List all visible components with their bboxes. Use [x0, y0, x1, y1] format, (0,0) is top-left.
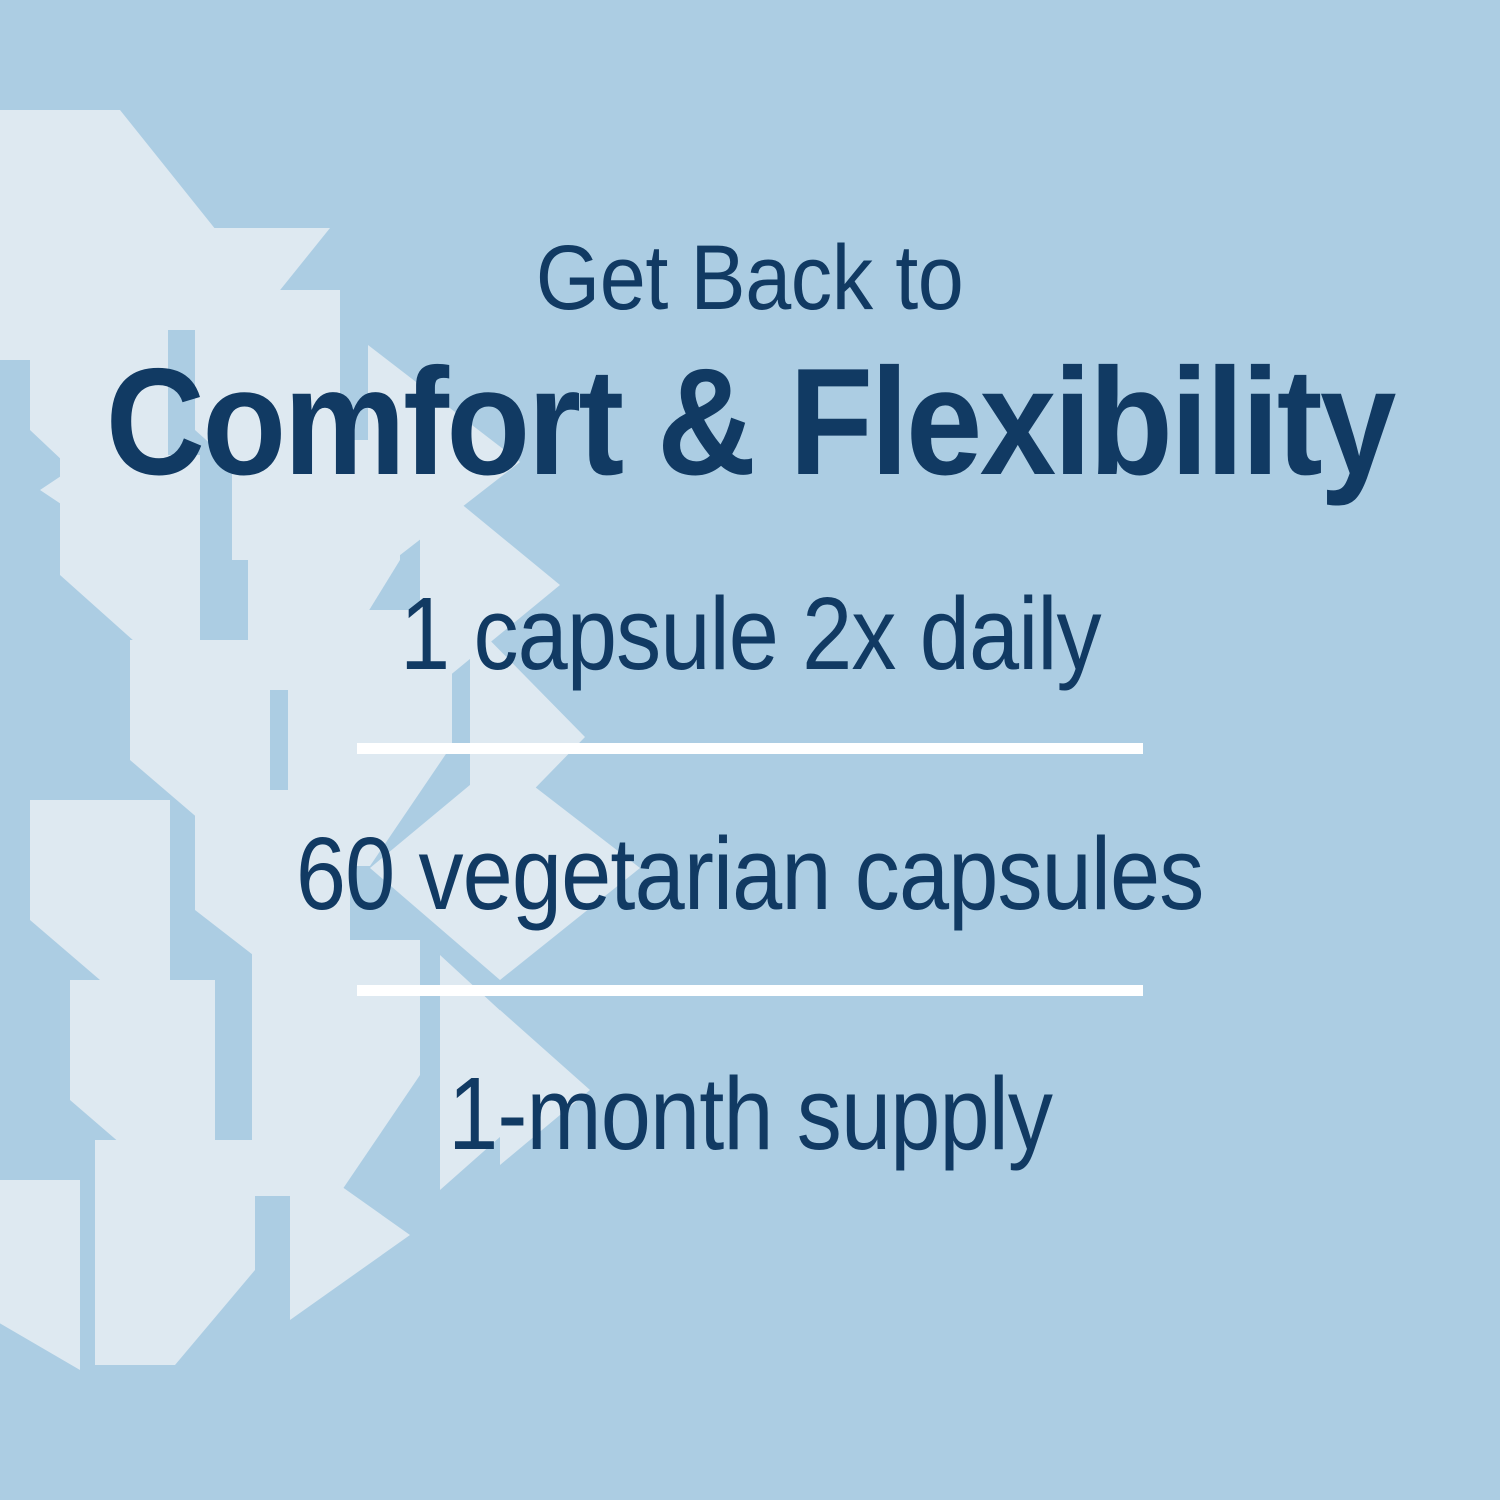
feature-item-dosage: 1 capsule 2x daily — [400, 582, 1101, 685]
feature-item-count: 60 vegetarian capsules — [296, 822, 1204, 925]
page-title: Comfort & Flexibility — [106, 346, 1394, 498]
feature-item-supply: 1-month supply — [448, 1062, 1052, 1165]
eyebrow-text: Get Back to — [536, 232, 964, 324]
content-stack: Get Back to Comfort & Flexibility 1 caps… — [0, 0, 1500, 1500]
product-feature-graphic: Get Back to Comfort & Flexibility 1 caps… — [0, 0, 1500, 1500]
divider-rule-2 — [357, 985, 1143, 996]
divider-rule-1 — [357, 743, 1143, 754]
